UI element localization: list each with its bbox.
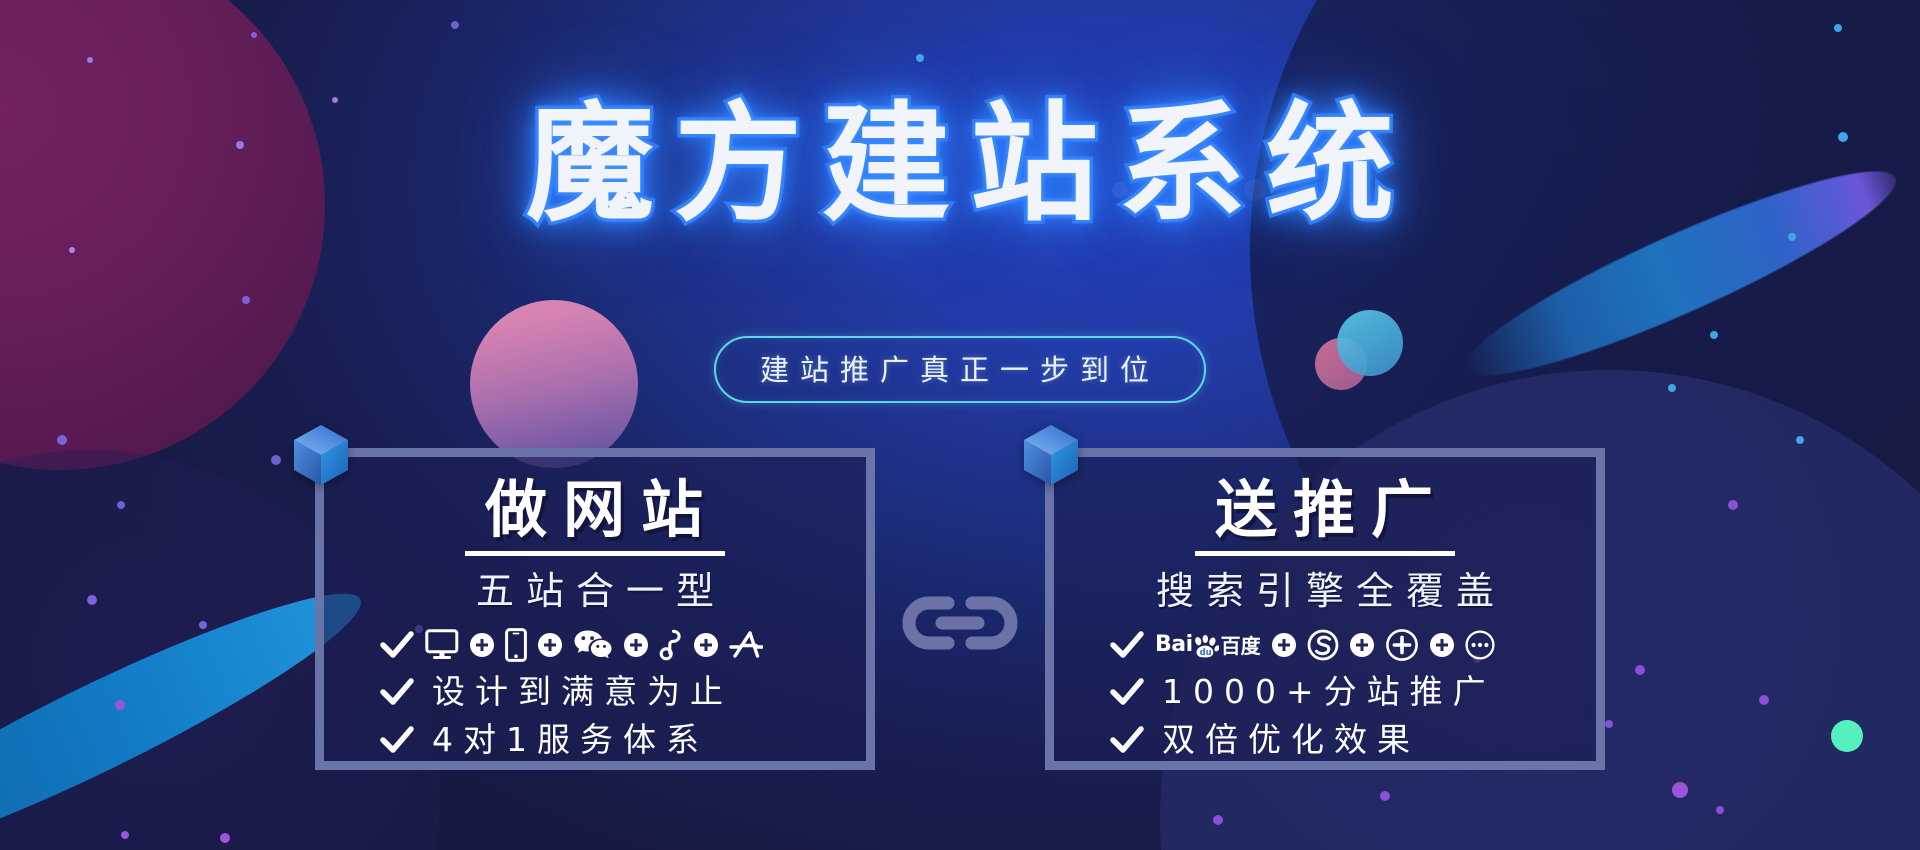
card-icon-row [324, 628, 866, 662]
banner-subtitle-wrap: 建站推广真正一步到位 [0, 336, 1920, 403]
check-icon [380, 725, 414, 755]
decorative-dot [1244, 179, 1266, 201]
decorative-dot [236, 141, 244, 149]
check-icon [1110, 725, 1144, 755]
card-make-website[interactable]: 做网站 五站合一型 [315, 448, 875, 770]
card-feature-row: 4对1服务体系 [324, 722, 866, 758]
card-feature-label: 4对1服务体系 [432, 722, 709, 758]
card-feature-label: 1000+分站推广 [1162, 674, 1496, 710]
mobile-phone-icon [505, 628, 527, 662]
decorative-dot [1788, 233, 1796, 241]
plus-circle-icon [694, 633, 718, 657]
card-feature-row: 1000+分站推广 [1054, 674, 1596, 710]
decorative-dot [69, 247, 75, 253]
app-store-icon [729, 629, 763, 660]
card-feature-label: 设计到满意为止 [432, 674, 733, 710]
gem-cube-icon [290, 422, 352, 492]
chain-link-icon [901, 592, 1019, 654]
baidu-chinese-text: 百度 [1221, 630, 1261, 659]
decorative-dot [1380, 791, 1390, 801]
card-free-promotion[interactable]: 送推广 搜索引擎全覆盖 Bai du 百度 [1045, 448, 1605, 770]
decorative-dot [1672, 782, 1688, 798]
baidu-du-text: du [1199, 647, 1211, 657]
check-icon [1110, 630, 1144, 660]
card-heading: 送推广 [1195, 479, 1455, 556]
decorative-dot [451, 21, 459, 29]
decorative-dot [916, 54, 924, 62]
decorative-dot [1716, 806, 1724, 814]
subtitle-pill: 建站推广真正一步到位 [714, 336, 1206, 403]
more-ellipsis-icon [1465, 630, 1495, 660]
wechat-icon [573, 629, 613, 660]
decorative-dot [1838, 132, 1848, 142]
card-subheading: 五站合一型 [324, 570, 866, 614]
decorative-dot [251, 32, 257, 38]
check-icon [380, 630, 414, 660]
card-feature-row: 双倍优化效果 [1054, 722, 1596, 758]
decorative-dot [1112, 182, 1128, 198]
decorative-dot [1796, 436, 1804, 444]
desktop-monitor-icon [425, 629, 459, 660]
360-search-icon [1385, 628, 1419, 662]
plus-circle-icon [538, 633, 562, 657]
sogou-s-icon [1307, 629, 1339, 661]
decorative-dot [87, 57, 93, 63]
plus-circle-icon [470, 633, 494, 657]
decorative-dot [57, 435, 67, 445]
card-icon-row: Bai du 百度 [1054, 628, 1596, 662]
banner-stage: 魔方建站系统 建站推广真正一步到位 [0, 0, 1920, 850]
decorative-dot [242, 296, 250, 304]
decorative-dot [121, 831, 129, 839]
card-feature-label: 双倍优化效果 [1162, 722, 1420, 758]
baidu-paw-icon: du [1193, 635, 1219, 659]
decorative-dot [1834, 24, 1842, 32]
plus-circle-icon [624, 633, 648, 657]
baidu-logo: Bai du 百度 [1155, 630, 1261, 659]
card-feature-row: 设计到满意为止 [324, 674, 866, 710]
decorative-dot [220, 833, 230, 843]
decorative-dot [332, 97, 338, 103]
card-subheading: 搜索引擎全覆盖 [1054, 570, 1596, 614]
baidu-latin-text: Bai [1155, 632, 1193, 657]
gem-cube-icon [1020, 422, 1082, 492]
check-icon [1110, 677, 1144, 707]
card-heading: 做网站 [465, 479, 725, 556]
plus-circle-icon [1350, 633, 1374, 657]
decorative-dot [1213, 815, 1223, 825]
plus-circle-icon [1430, 633, 1454, 657]
plus-circle-icon [1272, 633, 1296, 657]
check-icon [380, 677, 414, 707]
qq-music-note-icon [659, 628, 683, 661]
